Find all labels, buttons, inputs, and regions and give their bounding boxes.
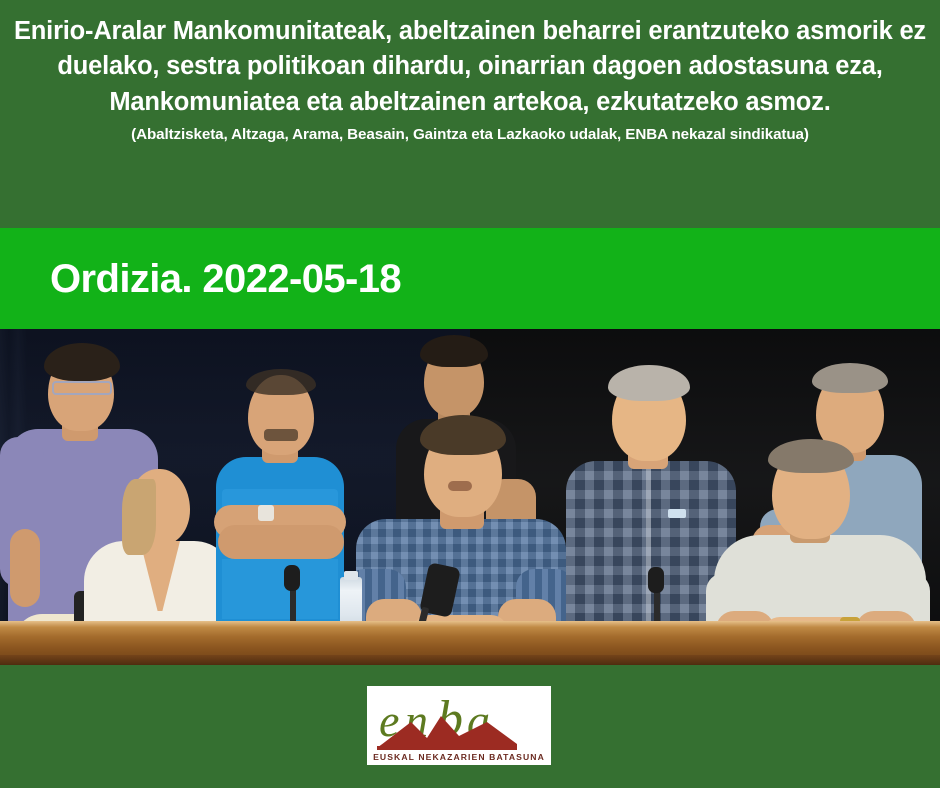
enba-logo: e n b a EUSKAL NEKAZARIEN BATASUNA enba … xyxy=(367,686,551,765)
location-date-band: Ordizia. 2022-05-18 xyxy=(0,228,940,329)
headline-text: Enirio-Aralar Mankomunitateak, abeltzain… xyxy=(14,14,926,120)
table-edge xyxy=(0,655,940,665)
enba-logo-svg: e n b a EUSKAL NEKAZARIEN BATASUNA xyxy=(367,686,551,765)
poster: Enirio-Aralar Mankomunitateak, abeltzain… xyxy=(0,0,940,788)
header-banner: Enirio-Aralar Mankomunitateak, abeltzain… xyxy=(0,0,940,228)
subline-text: (Abaltzisketa, Altzaga, Arama, Beasain, … xyxy=(5,126,935,143)
press-conference-photo xyxy=(0,329,940,665)
microphone-head xyxy=(284,565,300,591)
bottle-cap xyxy=(344,571,358,580)
glasses xyxy=(52,381,112,395)
location-date-text: Ordizia. 2022-05-18 xyxy=(50,257,401,302)
microphone-head xyxy=(648,567,664,593)
footer-banner: e n b a EUSKAL NEKAZARIEN BATASUNA enba … xyxy=(0,665,940,788)
logo-tagline: EUSKAL NEKAZARIEN BATASUNA xyxy=(373,752,545,762)
wristwatch xyxy=(258,505,274,521)
